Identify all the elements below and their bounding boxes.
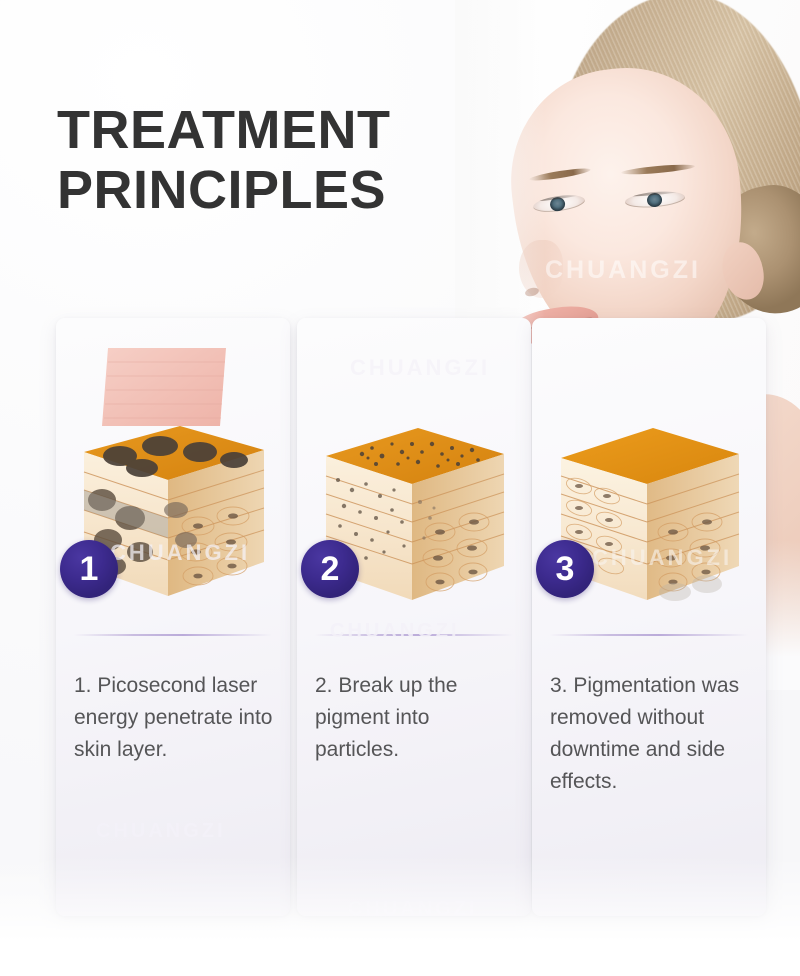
step-card-1[interactable]: 1 1. Picosecond laser energy penetrate i… [56, 318, 290, 916]
page-title-line1: TREATMENT [57, 100, 477, 160]
page-title-line2: PRINCIPLES [57, 160, 477, 220]
step-3-badge: 3 [536, 540, 594, 598]
step-1-divider [74, 634, 272, 636]
step-3-divider [550, 634, 748, 636]
infographic-page: CHUANGZI TREATMENT PRINCIPLES [0, 0, 800, 976]
step-1-badge: 1 [60, 540, 118, 598]
steps-container: 1 1. Picosecond laser energy penetrate i… [0, 318, 800, 918]
step-card-3[interactable]: 3 3. Pigmentation was removed without do… [532, 318, 766, 916]
bottom-fade [0, 856, 800, 976]
step-1-text: 1. Picosecond laser energy penetrate int… [74, 670, 276, 766]
step-2-badge: 2 [301, 540, 359, 598]
step-2-divider [315, 634, 513, 636]
step-3-text: 3. Pigmentation was removed without down… [550, 670, 752, 798]
page-title: TREATMENT PRINCIPLES [57, 100, 477, 221]
step-2-text: 2. Break up the pigment into particles. [315, 670, 517, 766]
step-card-2[interactable]: 2 2. Break up the pigment into particles… [297, 318, 531, 916]
